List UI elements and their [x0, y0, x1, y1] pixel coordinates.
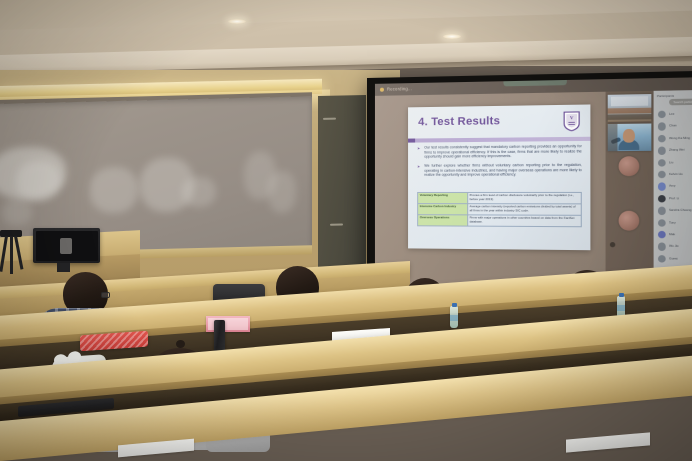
mic-status-icon [610, 242, 615, 247]
table-value: Firms with major operations in other cou… [467, 215, 581, 227]
table-key: Intensive Carbon Industry [418, 204, 468, 215]
paper-handout-5 [566, 432, 650, 452]
slide-bullet-1-text: Our test results consistently suggest th… [424, 144, 582, 159]
thermos-flask [214, 320, 225, 352]
participant-name: Chan [669, 123, 692, 128]
participant-name: Guest [669, 256, 692, 261]
avatar [657, 255, 665, 263]
tripod-leg-3 [10, 236, 13, 274]
avatar [657, 111, 665, 119]
slide-title: 4. Test Results [418, 115, 500, 128]
avatar [657, 135, 665, 143]
list-item[interactable]: Sandra Cheung Yin [654, 205, 692, 217]
presentation-slide: 4. Test Results V Our test results consi… [408, 104, 590, 250]
lecture-hall-photo: Recording... 4. Test Results V [0, 0, 692, 461]
downlight-1 [228, 19, 246, 24]
avatar [657, 207, 665, 215]
list-item[interactable]: Mak [654, 229, 692, 241]
video-tile-room[interactable] [608, 94, 652, 122]
table-value: Average carbon intensity (reported carbo… [467, 204, 581, 216]
avatar [657, 123, 665, 131]
zoom-video-rail [606, 91, 654, 291]
participant-name: Tony [669, 220, 692, 224]
list-item[interactable]: Wong Ka Ming [654, 132, 692, 145]
list-item[interactable]: Kelvin Ho [654, 168, 692, 180]
participant-name: Liu [669, 160, 692, 164]
participant-name: Kelvin Ho [669, 172, 692, 176]
table-key: Overseas Operations [418, 215, 468, 226]
avatar [657, 147, 665, 155]
pink-nameplate [206, 316, 250, 332]
avatar [657, 159, 665, 167]
participant-name: Wu Jie [669, 244, 692, 249]
participants-list: Lee Chan Wong Ka Ming Zhang Wei [654, 108, 692, 265]
participants-search-placeholder: Search participants [673, 100, 692, 105]
participant-name: Sandra Cheung Yin [669, 208, 692, 212]
avatar [657, 195, 665, 203]
slide-bullet-2: We further explore whether firms without… [417, 163, 582, 178]
list-item[interactable]: Tony [654, 217, 692, 229]
glasses-icon [101, 292, 110, 298]
recording-label: Recording... [387, 86, 412, 92]
avatar [657, 171, 665, 179]
table-row: Voluntary Reporting Proxies a firm level… [418, 192, 582, 203]
participant-avatar-2[interactable] [619, 211, 640, 231]
table-value: Proxies a firm level of carbon disclosur… [467, 192, 581, 203]
list-item[interactable]: Liu [654, 156, 692, 168]
avatar [657, 183, 665, 191]
participant-name: Amy [669, 184, 692, 188]
video-tile-presenter[interactable] [608, 123, 652, 151]
monitor-accessory [60, 238, 72, 254]
recording-dot-icon [380, 88, 384, 92]
avatar [657, 243, 665, 251]
monitor-stand [57, 263, 70, 272]
participant-name: Wong Ka Ming [669, 135, 692, 140]
slide-bullet-1: Our test results consistently suggest th… [417, 144, 582, 159]
slide-title-rule [408, 137, 590, 142]
table-key: Voluntary Reporting [418, 192, 468, 203]
list-item[interactable]: Amy [654, 181, 692, 193]
list-item[interactable]: Chan [654, 120, 692, 133]
slide-bullets: Our test results consistently suggest th… [417, 144, 582, 182]
list-item[interactable]: Lee [654, 108, 692, 121]
hair-bun [176, 340, 185, 348]
avatar [657, 231, 665, 239]
table-row: Intensive Carbon Industry Average carbon… [418, 204, 582, 216]
participant-avatar-1[interactable] [619, 156, 640, 176]
participant-name: Prof. Li [669, 196, 692, 200]
table-row: Overseas Operations Firms with major ope… [418, 215, 582, 227]
participants-search-input[interactable]: Search participants [669, 98, 692, 105]
downlight-2 [443, 34, 461, 39]
university-crest-icon: V [563, 111, 581, 132]
slide-variable-table: Voluntary Reporting Proxies a firm level… [417, 192, 582, 227]
list-item[interactable]: Zhang Wei [654, 144, 692, 156]
participants-panel-header: Participants [657, 94, 674, 99]
participant-name: Zhang Wei [669, 147, 692, 152]
participant-name: Lee [669, 111, 692, 116]
list-item[interactable]: Guest [654, 253, 692, 266]
list-item[interactable]: Prof. Li [654, 193, 692, 205]
list-item[interactable]: Wu Jie [654, 241, 692, 254]
slide-bullet-2-text: We further explore whether firms without… [424, 163, 582, 178]
participant-name: Mak [669, 232, 692, 236]
water-bottle-1 [450, 306, 458, 328]
avatar [657, 219, 665, 227]
